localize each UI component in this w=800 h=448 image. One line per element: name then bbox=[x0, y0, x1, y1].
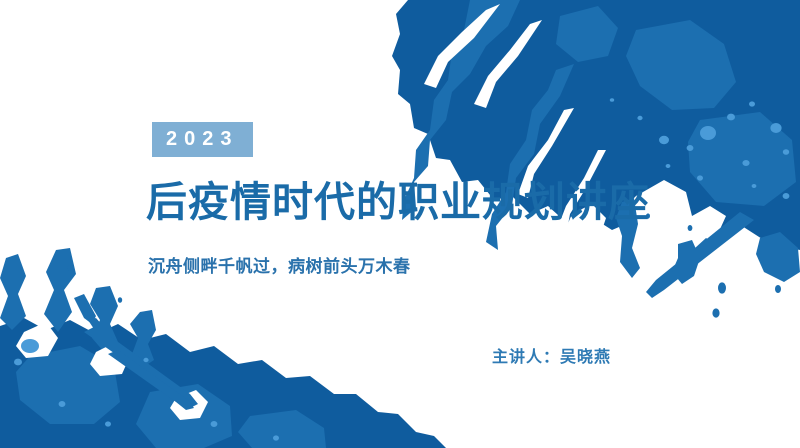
subtitle: 沉舟侧畔千帆过，病树前头万木春 bbox=[148, 252, 411, 277]
page-title: 后疫情时代的职业规划讲座 bbox=[146, 180, 650, 226]
title-slide: 2023 后疫情时代的职业规划讲座 沉舟侧畔千帆过，病树前头万木春 主讲人：吴晓… bbox=[0, 0, 800, 448]
presenter-label: 主讲人：吴晓燕 bbox=[492, 343, 611, 367]
year-label: 2023 bbox=[166, 129, 239, 149]
title-content: 2023 后疫情时代的职业规划讲座 沉舟侧畔千帆过，病树前头万木春 主讲人：吴晓… bbox=[0, 0, 800, 448]
year-badge: 2023 bbox=[152, 122, 253, 157]
